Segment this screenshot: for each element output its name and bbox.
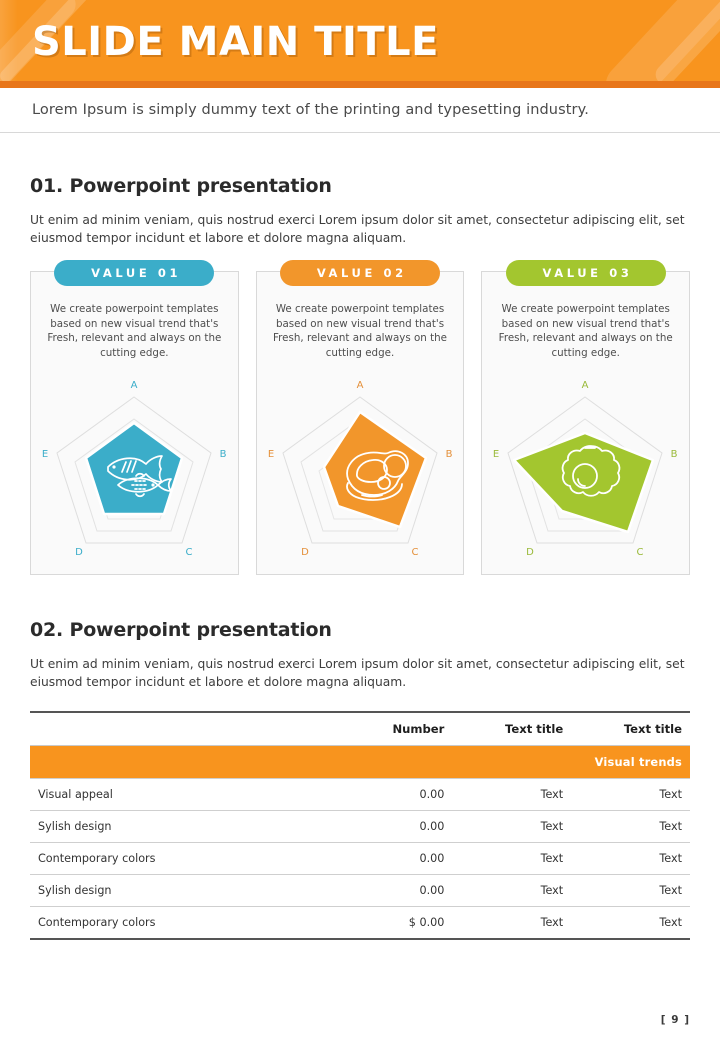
radar-series-polygon xyxy=(324,412,426,527)
table-row[interactable]: Visual appeal 0.00 Text Text xyxy=(30,779,690,811)
table-body: Visual trends Visual appeal 0.00 Text Te… xyxy=(30,746,690,940)
row-text-2: Text xyxy=(571,779,690,811)
visual-trends-table: Number Text title Text title Visual tren… xyxy=(30,711,690,940)
row-number: 0.00 xyxy=(320,843,452,875)
value-card-02-radar-chart: A B C D E xyxy=(257,375,464,560)
value-card-02-badge: VALUE 02 xyxy=(280,260,440,286)
radar-axis-label-d: D xyxy=(75,547,83,558)
row-number: 0.00 xyxy=(320,779,452,811)
table-col-number: Number xyxy=(320,712,452,746)
radar-axis-label-b: B xyxy=(671,449,678,460)
section-02: 02. Powerpoint presentation Ut enim ad m… xyxy=(0,619,720,940)
value-card-01-text: We create powerpoint templates based on … xyxy=(43,302,226,360)
row-text-2: Text xyxy=(571,875,690,907)
row-number: 0.00 xyxy=(320,875,452,907)
value-card-02[interactable]: VALUE 02 We create powerpoint templates … xyxy=(256,271,465,575)
radar-chart-svg: A B C D E xyxy=(258,375,463,560)
table-group-row: Visual trends xyxy=(30,746,690,779)
value-card-03-text: We create powerpoint templates based on … xyxy=(494,302,677,360)
value-card-03[interactable]: VALUE 03 We create powerpoint templates … xyxy=(481,271,690,575)
table-group-label: Visual trends xyxy=(30,746,690,779)
radar-chart-svg: A B C D E xyxy=(483,375,688,560)
table-header-row: Number Text title Text title xyxy=(30,712,690,746)
radar-axis-label-c: C xyxy=(185,547,192,558)
row-label: Sylish design xyxy=(30,811,320,843)
table-row[interactable]: Contemporary colors $ 0.00 Text Text xyxy=(30,907,690,940)
radar-axis-label-d: D xyxy=(526,547,534,558)
row-number: $ 0.00 xyxy=(320,907,452,940)
radar-axis-label-a: A xyxy=(356,380,363,391)
slide-subtitle-text: Lorem Ipsum is simply dummy text of the … xyxy=(32,102,589,118)
slide-title: SLIDE MAIN TITLE xyxy=(32,18,439,66)
row-text-2: Text xyxy=(571,811,690,843)
page-number: [ 9 ] xyxy=(661,1014,690,1026)
row-label: Visual appeal xyxy=(30,779,320,811)
radar-axis-label-e: E xyxy=(493,449,499,460)
row-text-2: Text xyxy=(571,907,690,940)
value-card-01-badge: VALUE 01 xyxy=(54,260,214,286)
value-cards-row: VALUE 01 We create powerpoint templates … xyxy=(30,271,690,575)
value-card-01[interactable]: VALUE 01 We create powerpoint templates … xyxy=(30,271,239,575)
section-02-title: 02. Powerpoint presentation xyxy=(30,619,690,641)
table-header: Number Text title Text title xyxy=(30,712,690,746)
row-text-1: Text xyxy=(452,779,571,811)
slide-header: SLIDE MAIN TITLE xyxy=(0,0,720,88)
row-text-1: Text xyxy=(452,811,571,843)
value-card-01-radar-chart: A B C D E xyxy=(31,375,238,560)
radar-chart-svg: A B C D E xyxy=(32,375,237,560)
table-row[interactable]: Sylish design 0.00 Text Text xyxy=(30,875,690,907)
table-col-label xyxy=(30,712,320,746)
section-01: 01. Powerpoint presentation Ut enim ad m… xyxy=(0,175,720,575)
row-label: Contemporary colors xyxy=(30,907,320,940)
table-row[interactable]: Contemporary colors 0.00 Text Text xyxy=(30,843,690,875)
row-text-1: Text xyxy=(452,843,571,875)
radar-axis-label-e: E xyxy=(267,449,273,460)
row-text-2: Text xyxy=(571,843,690,875)
radar-axis-label-b: B xyxy=(445,449,452,460)
row-number: 0.00 xyxy=(320,811,452,843)
row-text-1: Text xyxy=(452,875,571,907)
row-label: Sylish design xyxy=(30,875,320,907)
table-col-text-title-1: Text title xyxy=(452,712,571,746)
header-edge-highlight xyxy=(0,0,18,81)
table-col-text-title-2: Text title xyxy=(571,712,690,746)
radar-axis-label-e: E xyxy=(42,449,48,460)
table-row[interactable]: Sylish design 0.00 Text Text xyxy=(30,811,690,843)
value-card-03-badge: VALUE 03 xyxy=(506,260,666,286)
header-bottom-band xyxy=(0,81,720,88)
section-01-title: 01. Powerpoint presentation xyxy=(30,175,690,197)
slide-subtitle-bar: Lorem Ipsum is simply dummy text of the … xyxy=(0,88,720,133)
radar-axis-label-c: C xyxy=(411,547,418,558)
value-card-02-text: We create powerpoint templates based on … xyxy=(269,302,452,360)
radar-axis-label-a: A xyxy=(582,380,589,391)
section-01-body: Ut enim ad minim veniam, quis nostrud ex… xyxy=(30,211,690,247)
radar-axis-label-a: A xyxy=(130,380,137,391)
section-02-body: Ut enim ad minim veniam, quis nostrud ex… xyxy=(30,655,690,691)
radar-axis-label-b: B xyxy=(219,449,226,460)
row-label: Contemporary colors xyxy=(30,843,320,875)
radar-axis-label-c: C xyxy=(637,547,644,558)
value-card-03-radar-chart: A B C D E xyxy=(482,375,689,560)
row-text-1: Text xyxy=(452,907,571,940)
radar-axis-label-d: D xyxy=(301,547,309,558)
